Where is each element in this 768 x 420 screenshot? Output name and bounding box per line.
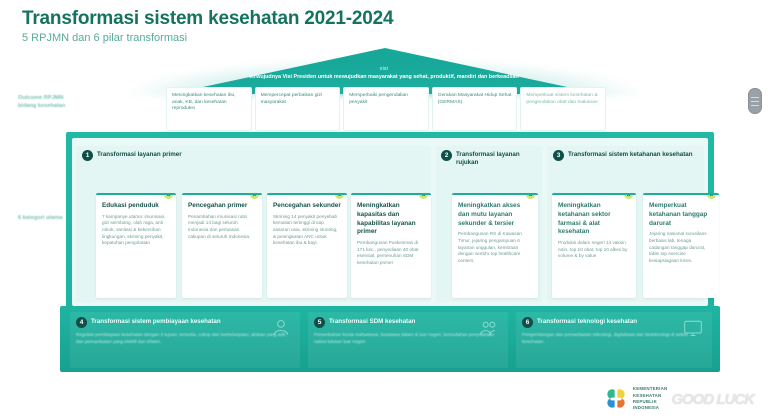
outcome-box: Meningkatkan kesehatan ibu, anak, KB, da… bbox=[166, 87, 252, 131]
pillar-title: Transformasi sistem ketahanan kesehatan bbox=[568, 150, 693, 159]
outcome-box: Memperbaiki pengendalian penyakit bbox=[343, 87, 429, 131]
base-pillar-header: 4 Transformasi sistem pembiayaan kesehat… bbox=[76, 317, 294, 328]
card-tag: b bbox=[250, 193, 259, 199]
outcome-box: Memperkuat sistem kesehatan & pengendali… bbox=[520, 87, 606, 131]
roof-vision-label: visi bbox=[0, 66, 768, 72]
card-edukasi-penduduk[interactable]: a Edukasi penduduk 7 kampanye utama: imu… bbox=[96, 193, 176, 298]
pillar-number-badge: 2 bbox=[441, 150, 452, 161]
roof-vision-text: terwujudnya Visi Presiden untuk mewujudk… bbox=[184, 74, 584, 80]
watermark-text: GOOD LUCK bbox=[671, 391, 754, 408]
card-ketahanan-farmasi-alkes[interactable]: a Meningkatkan ketahanan sektor farmasi … bbox=[552, 193, 636, 298]
resize-handle[interactable] bbox=[748, 88, 762, 114]
page-subtitle: 5 RPJMN dan 6 pilar transformasi bbox=[22, 32, 187, 44]
monitor-icon bbox=[682, 318, 704, 338]
pillar-header-3: 3 Transformasi sistem ketahanan kesehata… bbox=[553, 150, 699, 161]
card-tag: a bbox=[624, 193, 633, 199]
pillar-header-1: 1 Transformasi layanan primer bbox=[82, 150, 262, 161]
base-pillar-header: 6 Transformasi teknologi kesehatan bbox=[522, 317, 706, 328]
card-pencegahan-sekunder[interactable]: c Pencegahan sekunder Skrining 14 penyak… bbox=[267, 193, 347, 298]
pillar-title: Transformasi SDM kesehatan bbox=[329, 317, 415, 326]
handle-line bbox=[751, 97, 759, 98]
coin-hand-icon bbox=[270, 318, 292, 338]
handle-line bbox=[751, 101, 759, 102]
pillar-title: Transformasi teknologi kesehatan bbox=[537, 317, 637, 326]
card-akses-mutu-sekunder-tersier[interactable]: a Meningkatkan akses dan mutu layanan se… bbox=[452, 193, 538, 298]
card-body: 7 kampanye utama: imunisasi, gizi seimba… bbox=[102, 214, 170, 247]
card-pencegahan-primer[interactable]: b Pencegahan primer Penambahan imunisasi… bbox=[182, 193, 262, 298]
card-body: Pembangunan Puskesmas di 171 kec., penye… bbox=[357, 240, 425, 266]
pillar-number-badge: 4 bbox=[76, 317, 87, 328]
outcome-row: Meningkatkan kesehatan ibu, anak, KB, da… bbox=[166, 87, 606, 131]
card-body: Penambahan imunisasi rutin menjadi 14 ba… bbox=[188, 214, 256, 240]
side-label-outcome: Outcome RPJMN bidang kesehatan bbox=[18, 94, 80, 111]
card-tag: a bbox=[526, 193, 535, 199]
pillar-number-badge: 1 bbox=[82, 150, 93, 161]
card-title: Meningkatkan kapasitas dan kapabilitas l… bbox=[357, 202, 425, 237]
card-title: Memperkuat ketahanan tanggap darurat bbox=[649, 202, 713, 228]
pillar-title: Transformasi layanan rujukan bbox=[456, 150, 537, 168]
card-tag: b bbox=[707, 193, 716, 199]
card-kapasitas-kapabilitas-layanan-primer[interactable]: d Meningkatkan kapasitas dan kapabilitas… bbox=[351, 193, 431, 298]
pillar-body: Regulasi pembiayaan kesehatan dengan 3 t… bbox=[76, 332, 294, 345]
base-pillar-6[interactable]: 6 Transformasi teknologi kesehatan Penge… bbox=[516, 312, 712, 368]
card-tag: d bbox=[419, 193, 428, 199]
pillar-title: Transformasi layanan primer bbox=[97, 150, 182, 159]
pillar-body: Penambahan kuota mahasiswa, beasiswa dal… bbox=[314, 332, 502, 345]
card-body: Skrining 14 penyakit penyebab kematian t… bbox=[273, 214, 341, 247]
kemenkes-logo-icon bbox=[603, 386, 629, 412]
page-title: Transformasi sistem kesehatan 2021-2024 bbox=[22, 8, 393, 30]
handle-line bbox=[751, 105, 759, 106]
pillar-header-2: 2 Transformasi layanan rujukan bbox=[441, 150, 537, 168]
pillar-number-badge: 5 bbox=[314, 317, 325, 328]
card-body: Produksi dalam negeri 14 vaksin rutin, t… bbox=[558, 240, 630, 260]
ministry-name: KEMENTERIAN KESEHATAN REPUBLIK INDONESIA bbox=[633, 386, 667, 412]
card-title: Pencegahan primer bbox=[188, 202, 256, 211]
card-body: Pembangunan RS di Kawasan Timur, jejarin… bbox=[458, 231, 532, 264]
outcome-box: Mempercepat perbaikan gizi masyarakat bbox=[255, 87, 341, 131]
pillar-body: Pengembangan dan pemanfaatan teknologi, … bbox=[522, 332, 706, 345]
card-title: Meningkatkan ketahanan sektor farmasi & … bbox=[558, 202, 630, 237]
pillar-number-badge: 6 bbox=[522, 317, 533, 328]
people-icon bbox=[478, 318, 500, 338]
card-ketahanan-tanggap-darurat[interactable]: b Memperkuat ketahanan tanggap darurat J… bbox=[643, 193, 719, 298]
card-title: Edukasi penduduk bbox=[102, 202, 170, 211]
card-title: Pencegahan sekunder bbox=[273, 202, 341, 211]
card-title: Meningkatkan akses dan mutu layanan seku… bbox=[458, 202, 532, 228]
base-pillar-4[interactable]: 4 Transformasi sistem pembiayaan kesehat… bbox=[70, 312, 300, 368]
infographic-canvas: Transformasi sistem kesehatan 2021-2024 … bbox=[0, 0, 768, 420]
card-body: Jejaring nasional surveilans berbasis la… bbox=[649, 231, 713, 264]
pillar-title: Transformasi sistem pembiayaan kesehatan bbox=[91, 317, 221, 326]
card-tag: c bbox=[335, 193, 344, 199]
card-tag: a bbox=[164, 193, 173, 199]
outcome-box: Gerakan Masyarakat Hidup Sehat (GERMAS) bbox=[432, 87, 518, 131]
base-pillar-5[interactable]: 5 Transformasi SDM kesehatan Penambahan … bbox=[308, 312, 508, 368]
pillar-number-badge: 3 bbox=[553, 150, 564, 161]
base-pillar-header: 5 Transformasi SDM kesehatan bbox=[314, 317, 502, 328]
footer-logo-group: KEMENTERIAN KESEHATAN REPUBLIK INDONESIA… bbox=[603, 386, 754, 412]
